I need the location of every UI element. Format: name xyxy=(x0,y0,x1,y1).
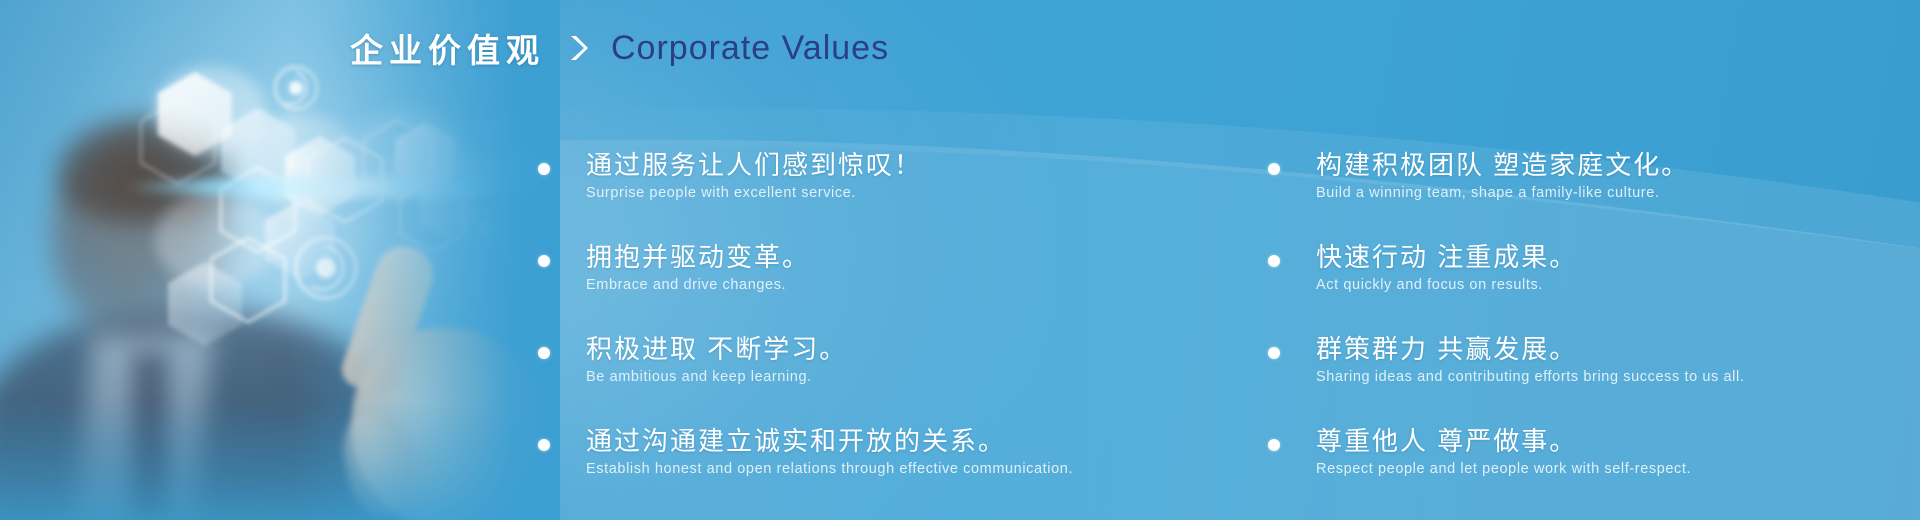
value-item: 尊重他人 尊严做事。 Respect people and let people… xyxy=(1268,426,1908,478)
value-text: 通过沟通建立诚实和开放的关系。 Establish honest and ope… xyxy=(586,426,1258,478)
value-text: 群策群力 共赢发展。 Sharing ideas and contributin… xyxy=(1316,334,1908,386)
chevron-right-icon xyxy=(567,33,589,63)
value-cn: 通过服务让人们感到惊叹！ xyxy=(586,150,1258,181)
bullet-dot-icon xyxy=(1268,439,1280,451)
right-column: 构建积极团队 塑造家庭文化。 Build a winning team, sha… xyxy=(1268,150,1908,518)
bullet-dot-icon xyxy=(1268,163,1280,175)
value-text: 通过服务让人们感到惊叹！ Surprise people with excell… xyxy=(586,150,1258,202)
value-en: Establish honest and open relations thro… xyxy=(586,461,1258,478)
banner-header: 企业价值观 Corporate Values xyxy=(350,24,889,72)
value-text: 构建积极团队 塑造家庭文化。 Build a winning team, sha… xyxy=(1316,150,1908,202)
page-title-cn: 企业价值观 xyxy=(350,24,545,72)
value-item: 构建积极团队 塑造家庭文化。 Build a winning team, sha… xyxy=(1268,150,1908,202)
value-text: 拥抱并驱动变革。 Embrace and drive changes. xyxy=(586,242,1258,294)
value-en: Sharing ideas and contributing efforts b… xyxy=(1316,369,1908,386)
values-columns: 通过服务让人们感到惊叹！ Surprise people with excell… xyxy=(0,150,1920,518)
value-text: 快速行动 注重成果。 Act quickly and focus on resu… xyxy=(1316,242,1908,294)
value-text: 尊重他人 尊严做事。 Respect people and let people… xyxy=(1316,426,1908,478)
left-column: 通过服务让人们感到惊叹！ Surprise people with excell… xyxy=(538,150,1258,518)
bullet-dot-icon xyxy=(538,255,550,267)
value-item: 积极进取 不断学习。 Be ambitious and keep learnin… xyxy=(538,334,1258,386)
bullet-dot-icon xyxy=(538,163,550,175)
corporate-values-banner: 企业价值观 Corporate Values 通过服务让人们感到惊叹！ Surp… xyxy=(0,0,1920,520)
value-cn: 积极进取 不断学习。 xyxy=(586,334,1258,365)
value-cn: 尊重他人 尊严做事。 xyxy=(1316,426,1908,457)
value-en: Surprise people with excellent service. xyxy=(586,185,1258,202)
value-cn: 构建积极团队 塑造家庭文化。 xyxy=(1316,150,1908,181)
value-item: 拥抱并驱动变革。 Embrace and drive changes. xyxy=(538,242,1258,294)
bullet-dot-icon xyxy=(538,439,550,451)
value-en: Embrace and drive changes. xyxy=(586,277,1258,294)
value-en: Build a winning team, shape a family-lik… xyxy=(1316,185,1908,202)
value-cn: 群策群力 共赢发展。 xyxy=(1316,334,1908,365)
bullet-dot-icon xyxy=(538,347,550,359)
value-en: Respect people and let people work with … xyxy=(1316,461,1908,478)
value-cn: 通过沟通建立诚实和开放的关系。 xyxy=(586,426,1258,457)
value-en: Act quickly and focus on results. xyxy=(1316,277,1908,294)
value-cn: 快速行动 注重成果。 xyxy=(1316,242,1908,273)
bullet-dot-icon xyxy=(1268,255,1280,267)
value-item: 群策群力 共赢发展。 Sharing ideas and contributin… xyxy=(1268,334,1908,386)
value-item: 通过服务让人们感到惊叹！ Surprise people with excell… xyxy=(538,150,1258,202)
bullet-dot-icon xyxy=(1268,347,1280,359)
value-item: 通过沟通建立诚实和开放的关系。 Establish honest and ope… xyxy=(538,426,1258,478)
value-cn: 拥抱并驱动变革。 xyxy=(586,242,1258,273)
value-en: Be ambitious and keep learning. xyxy=(586,369,1258,386)
value-item: 快速行动 注重成果。 Act quickly and focus on resu… xyxy=(1268,242,1908,294)
value-text: 积极进取 不断学习。 Be ambitious and keep learnin… xyxy=(586,334,1258,386)
page-title-en: Corporate Values xyxy=(611,29,889,68)
